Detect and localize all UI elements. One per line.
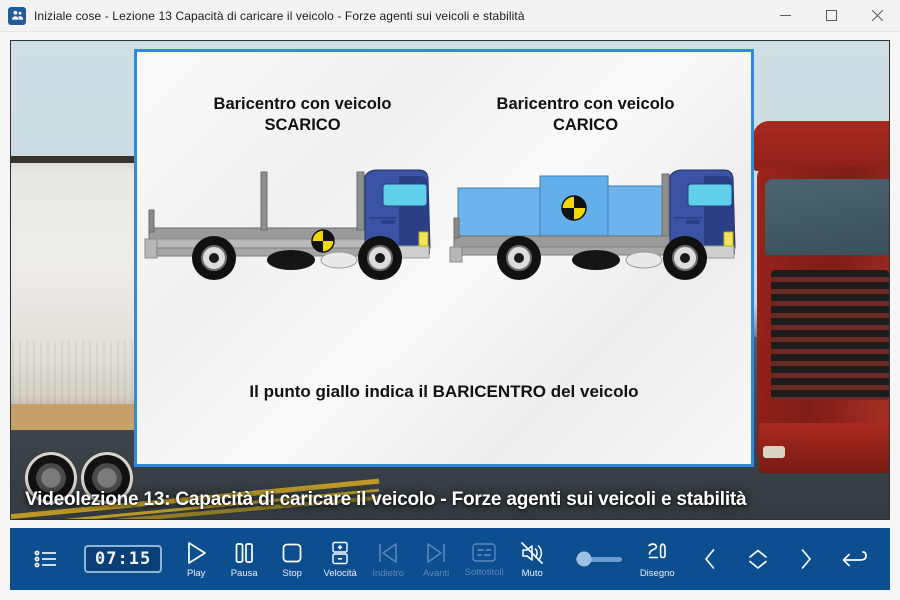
video-stage: Baricentro con veicolo SCARICO Baricentr… bbox=[0, 32, 900, 520]
pause-label: Pausa bbox=[231, 569, 258, 579]
play-label: Play bbox=[187, 569, 205, 579]
time-display: 07:15 bbox=[84, 545, 162, 574]
volume-track[interactable] bbox=[576, 557, 623, 562]
draw-label: Disegno bbox=[640, 569, 675, 579]
mute-label: Muto bbox=[522, 569, 543, 579]
index-button[interactable] bbox=[22, 532, 70, 586]
video-surface[interactable]: Baricentro con veicolo SCARICO Baricentr… bbox=[10, 40, 890, 520]
speed-button[interactable]: Velocità bbox=[316, 532, 364, 586]
forward-label: Avanti bbox=[423, 569, 449, 579]
slide-overlay: Baricentro con veicolo SCARICO Baricentr… bbox=[134, 49, 754, 467]
subtitles-button[interactable]: Sottotitoli bbox=[460, 532, 508, 586]
back-button[interactable]: Indietro bbox=[364, 532, 412, 586]
minimize-icon[interactable] bbox=[762, 0, 808, 32]
truck-illustrations bbox=[137, 162, 751, 282]
play-button[interactable]: Play bbox=[172, 532, 220, 586]
player-toolbar: 07:15 Play Pausa Stop bbox=[10, 528, 890, 590]
volume-slider[interactable] bbox=[576, 532, 623, 586]
heading-unloaded-line2: SCARICO bbox=[178, 115, 428, 136]
heading-loaded-line1: Baricentro con veicolo bbox=[497, 95, 675, 113]
prev-button[interactable] bbox=[686, 532, 734, 586]
video-banner: Videolezione 13: Capacità di caricare il… bbox=[25, 489, 875, 511]
center-of-gravity-marker bbox=[562, 196, 586, 220]
window-controls bbox=[762, 0, 900, 32]
background-red-truck bbox=[749, 98, 890, 480]
forward-button[interactable]: Avanti bbox=[412, 532, 460, 586]
window-title: Iniziale cose - Lezione 13 Capacità di c… bbox=[34, 9, 762, 23]
subtitles-label: Sottotitoli bbox=[465, 568, 504, 578]
mute-button[interactable]: Muto bbox=[508, 532, 556, 586]
back-label: Indietro bbox=[372, 569, 404, 579]
truck-unloaded bbox=[143, 162, 448, 282]
next-button[interactable] bbox=[782, 532, 830, 586]
volume-knob[interactable] bbox=[576, 552, 591, 567]
slide-caption: Il punto giallo indica il BARICENTRO del… bbox=[137, 382, 751, 402]
return-button[interactable] bbox=[830, 532, 878, 586]
pause-button[interactable]: Pausa bbox=[220, 532, 268, 586]
app-window: Iniziale cose - Lezione 13 Capacità di c… bbox=[0, 0, 900, 600]
speed-label: Velocità bbox=[324, 569, 357, 579]
close-icon[interactable] bbox=[854, 0, 900, 32]
heading-unloaded: Baricentro con veicolo SCARICO bbox=[178, 94, 428, 136]
draw-button[interactable]: Disegno bbox=[633, 532, 681, 586]
truck-loaded bbox=[448, 162, 753, 282]
center-of-gravity-marker bbox=[312, 230, 334, 252]
slide-headings: Baricentro con veicolo SCARICO Baricentr… bbox=[137, 94, 751, 136]
maximize-icon[interactable] bbox=[808, 0, 854, 32]
heading-loaded-line2: CARICO bbox=[461, 115, 711, 136]
heading-unloaded-line1: Baricentro con veicolo bbox=[214, 95, 392, 113]
people-icon bbox=[8, 7, 26, 25]
title-bar: Iniziale cose - Lezione 13 Capacità di c… bbox=[0, 0, 900, 32]
heading-loaded: Baricentro con veicolo CARICO bbox=[461, 94, 711, 136]
stop-label: Stop bbox=[282, 569, 302, 579]
expand-button[interactable] bbox=[734, 532, 782, 586]
stop-button[interactable]: Stop bbox=[268, 532, 316, 586]
